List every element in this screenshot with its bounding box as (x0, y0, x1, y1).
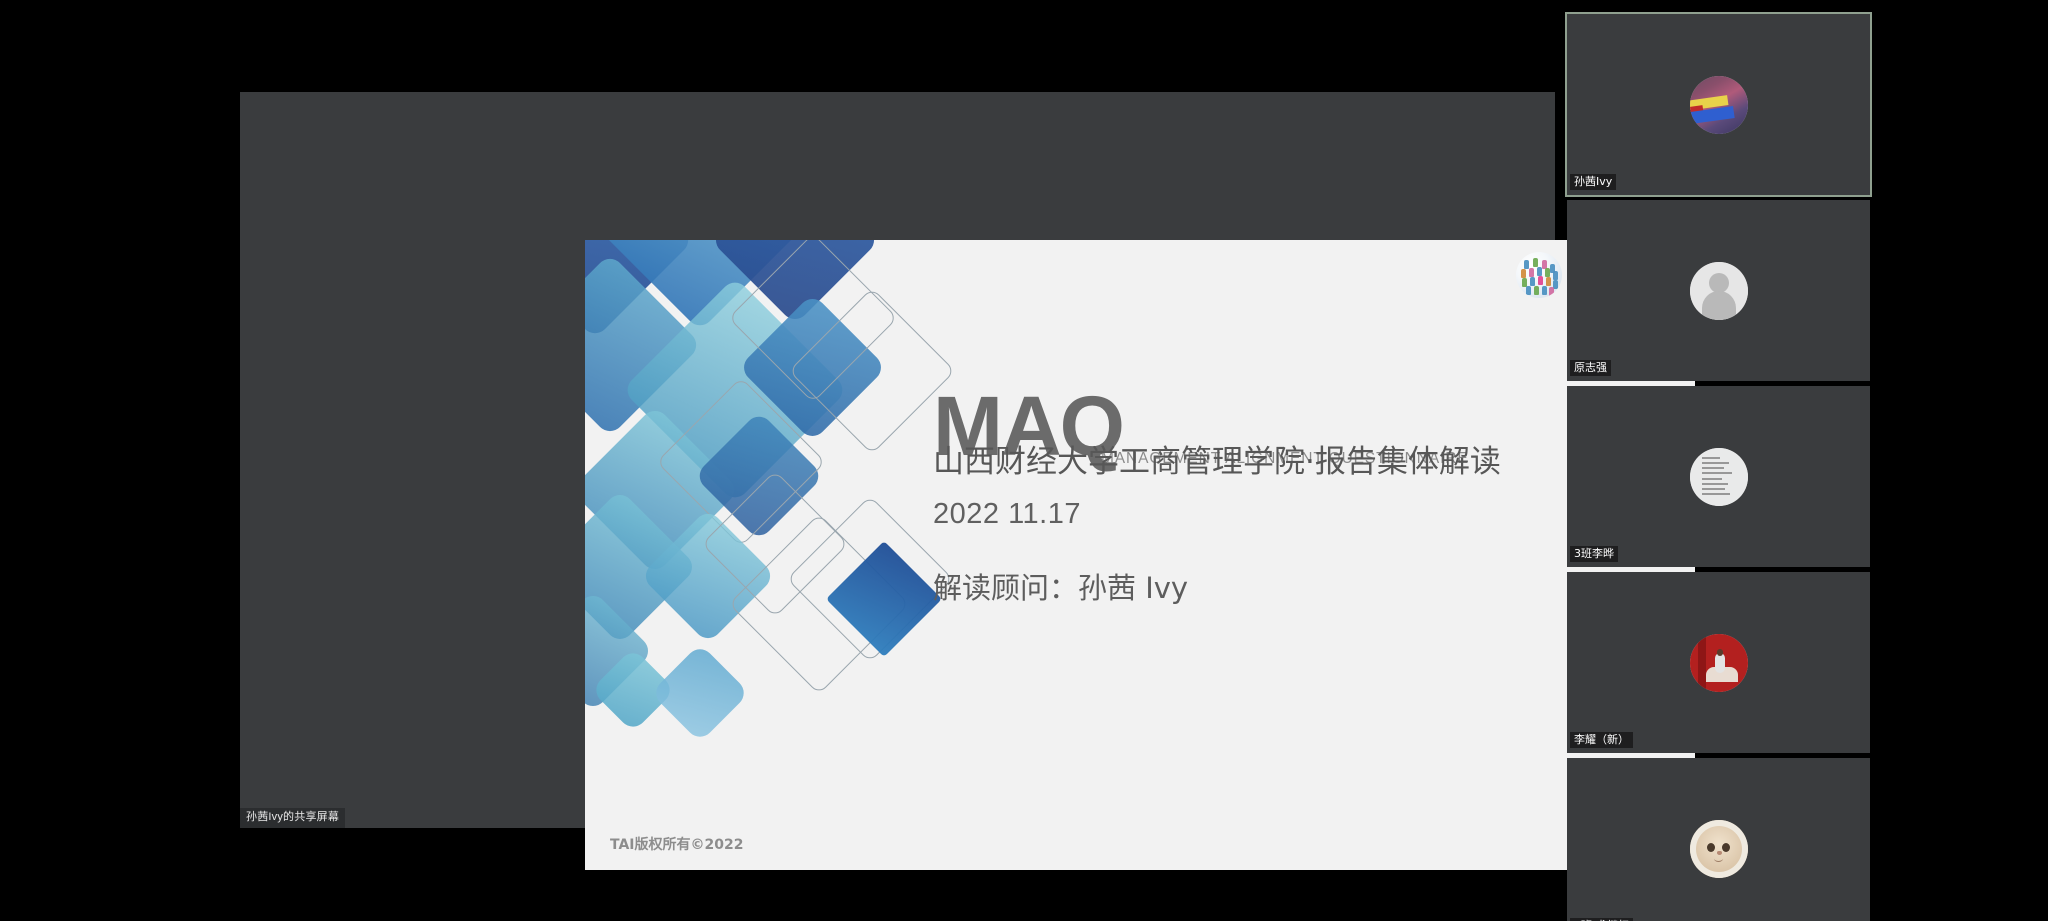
slide-headline: 山西财经大学工商管理学院·报告集体解读 (933, 436, 1501, 481)
slide-date: 2022 11.17 (933, 498, 1081, 531)
participant-tile[interactable]: 孙茜Ivy (1567, 14, 1870, 195)
meeting-window: talent assessments international MAQ MAN… (0, 0, 2048, 921)
slide-copyright: TAI版权所有©2022 (610, 834, 743, 854)
participant-tile[interactable]: 原志强 (1567, 200, 1870, 381)
avatar (1690, 76, 1748, 134)
participant-name: 李耀（新） (1570, 732, 1633, 748)
participant-name: 原志强 (1570, 360, 1611, 376)
participant-name: 3班李晔 (1570, 546, 1618, 562)
presentation-slide: talent assessments international MAQ MAN… (585, 240, 1695, 870)
avatar (1690, 634, 1748, 692)
avatar (1690, 820, 1748, 878)
avatar (1690, 262, 1748, 320)
participant-tile[interactable]: 李耀（新） (1567, 572, 1870, 753)
avatar (1690, 448, 1748, 506)
shared-screen-region[interactable]: talent assessments international MAQ MAN… (240, 92, 1555, 828)
share-owner-label: 孙茜Ivy的共享屏幕 (240, 808, 345, 828)
participant-name: 孙茜Ivy (1570, 174, 1616, 190)
slide-advisor: 解读顾问：孙茜 Ivy (933, 565, 1188, 607)
participant-tile[interactable]: 3班李晔 (1567, 386, 1870, 567)
participant-tile[interactable]: 3班-尤继权 (1567, 758, 1870, 921)
participant-filmstrip[interactable]: 孙茜Ivy 原志强 3班李晔 李耀（新） (1567, 14, 1870, 921)
